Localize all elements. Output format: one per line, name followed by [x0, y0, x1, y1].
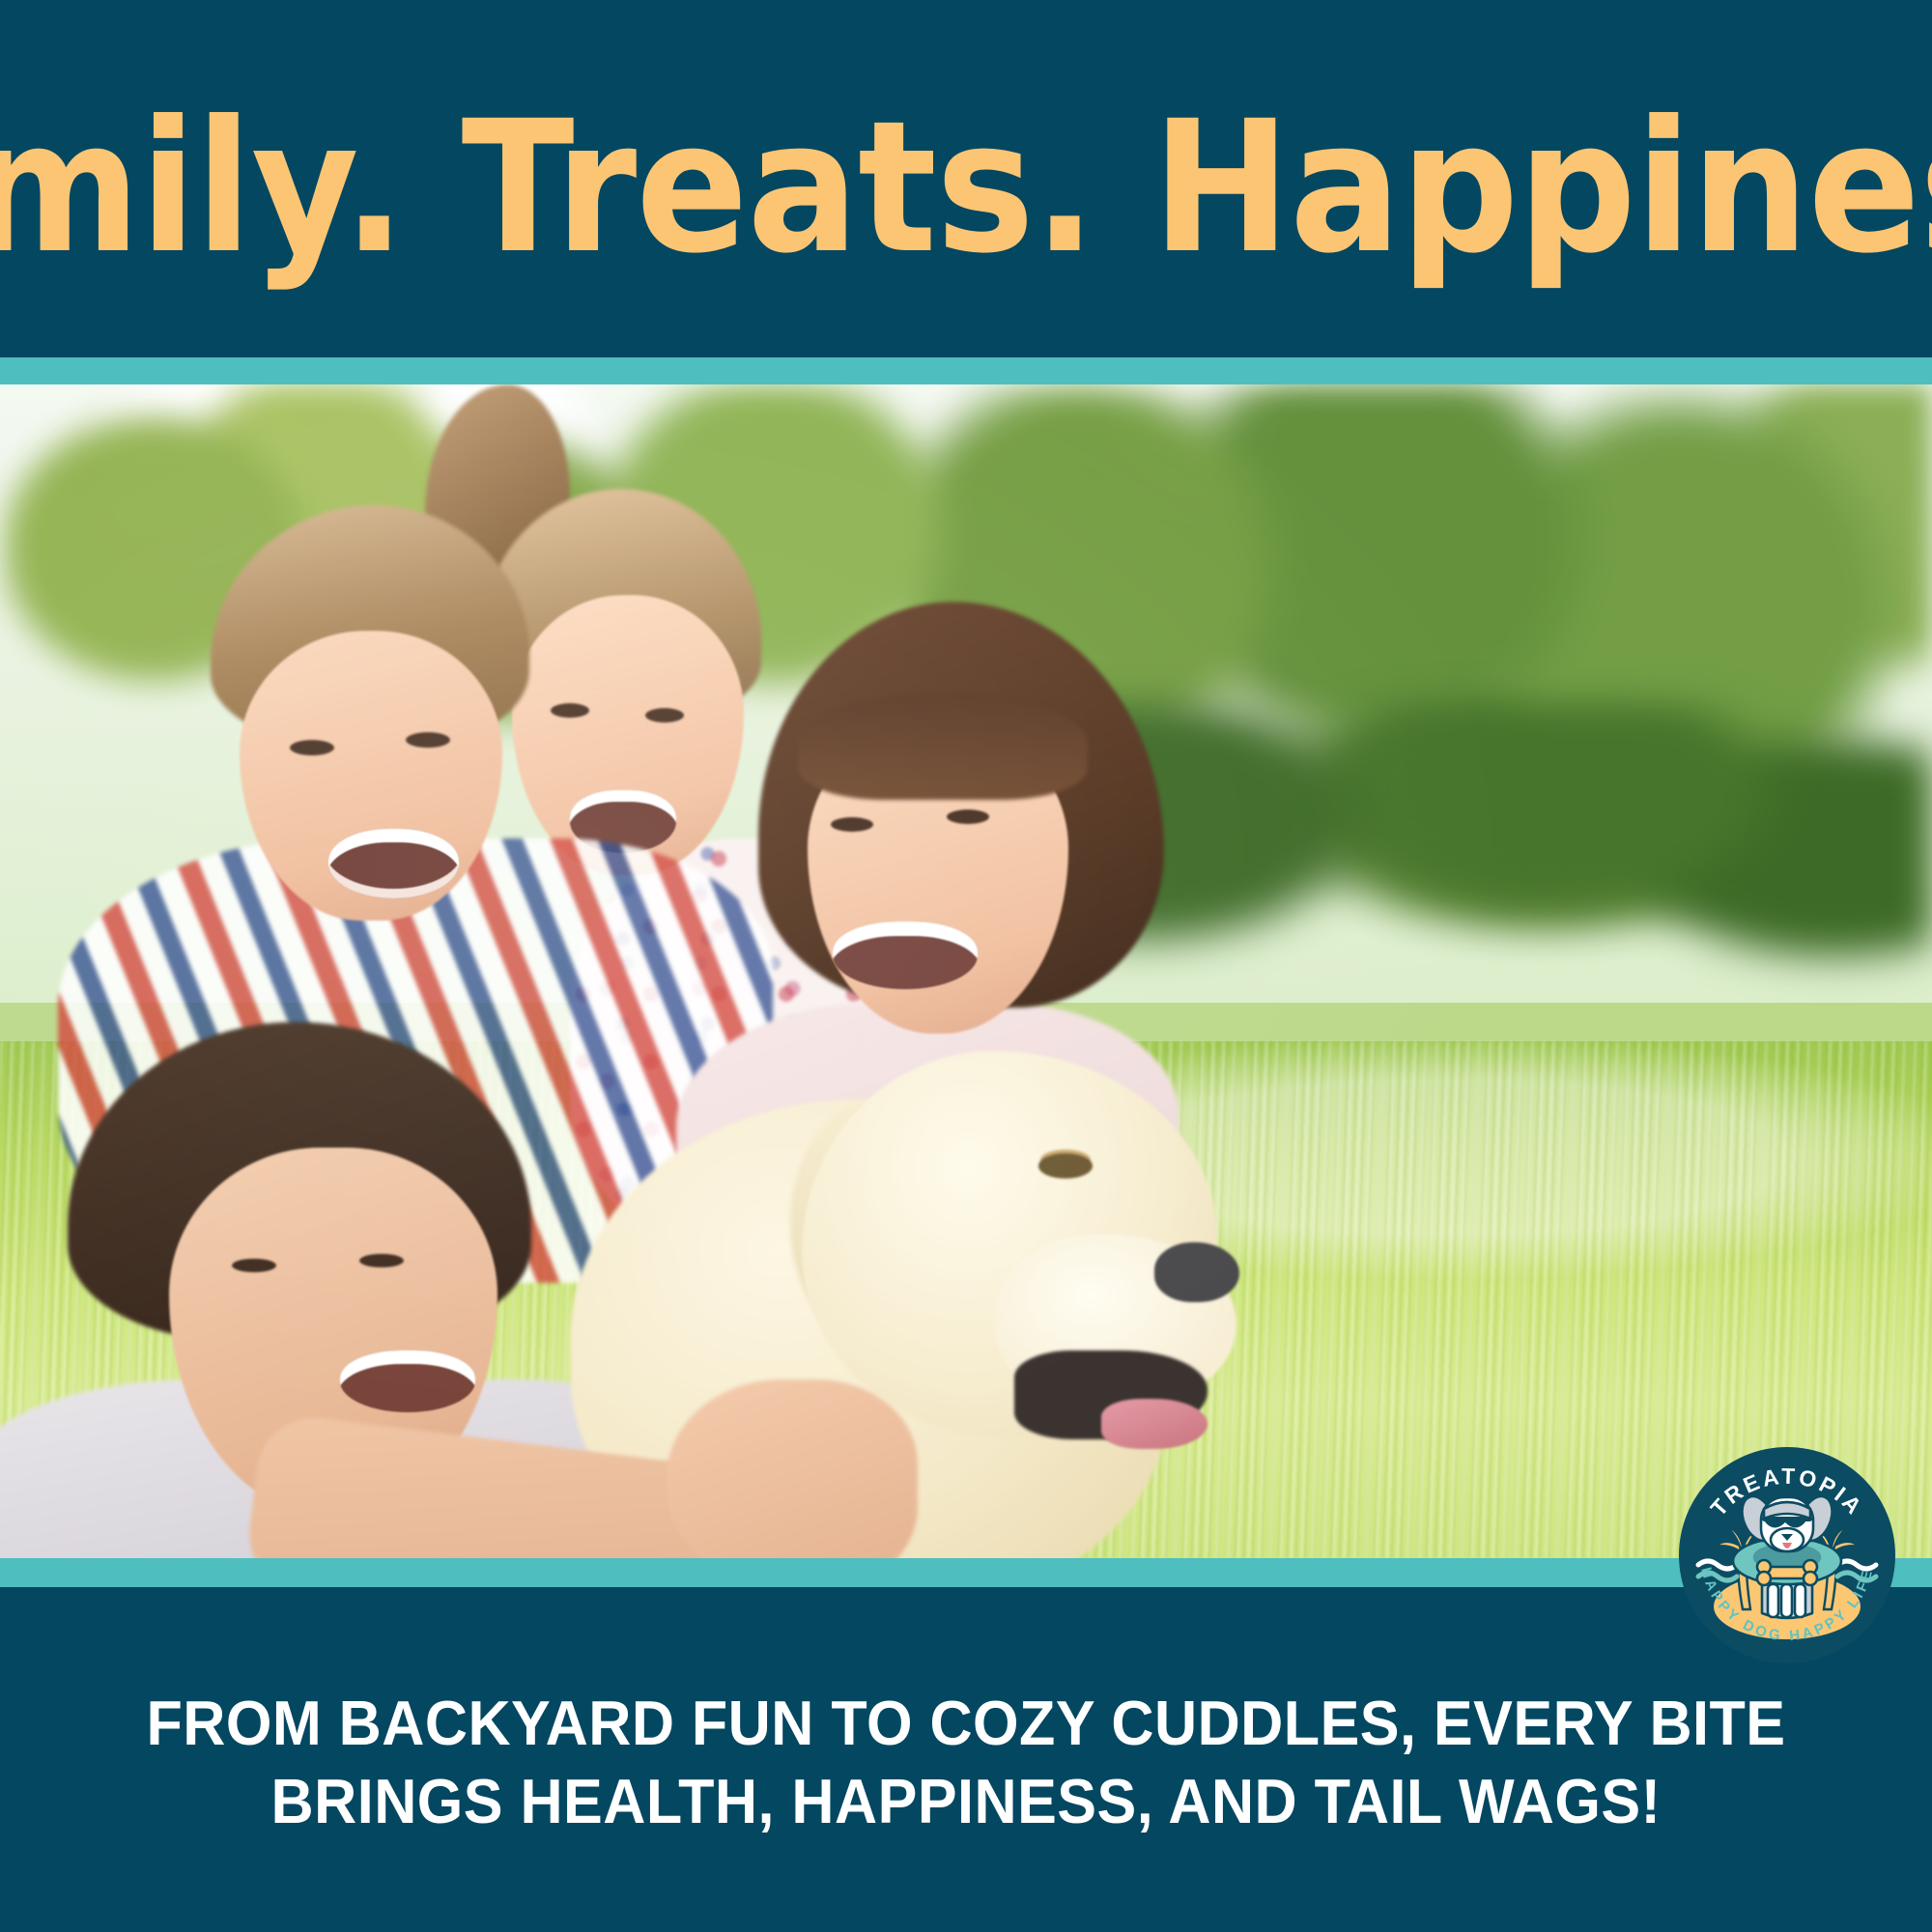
- dog-nose: [1154, 1242, 1239, 1302]
- father-eye-right: [359, 1254, 404, 1267]
- footer-banner: FROM BACKYARD FUN TO COZY CUDDLES, EVERY…: [0, 1587, 1932, 1932]
- promo-poster: Family. Treats. Happiness.: [0, 0, 1932, 1932]
- father-mouth: [340, 1350, 475, 1412]
- dog-tongue: [1101, 1399, 1207, 1449]
- brand-logo[interactable]: TREATOPIA HAPPY DOG HAPPY LIFE: [1679, 1447, 1895, 1663]
- header-banner: Family. Treats. Happiness.: [0, 0, 1932, 357]
- father-hand: [667, 1379, 918, 1558]
- divider-band-bottom: [0, 1558, 1932, 1587]
- girl-eye-left: [551, 703, 589, 718]
- boy-eye-right: [406, 732, 450, 748]
- mother-eye-left: [831, 817, 873, 832]
- boy-eye-left: [290, 740, 334, 755]
- tagline-line-2: BRINGS HEALTH, HAPPINESS, AND TAIL WAGS!: [58, 1762, 1874, 1840]
- mother-fringe: [798, 694, 1088, 800]
- logo-badge-svg: TREATOPIA HAPPY DOG HAPPY LIFE: [1679, 1447, 1895, 1663]
- divider-band-top: [0, 357, 1932, 384]
- dog-eye: [1038, 1153, 1093, 1179]
- girl-eye-right: [645, 708, 684, 723]
- page-title: Family. Treats. Happiness.: [0, 97, 1932, 278]
- tagline: FROM BACKYARD FUN TO COZY CUDDLES, EVERY…: [58, 1684, 1874, 1841]
- photo-scene: [0, 384, 1932, 1558]
- tagline-line-1: FROM BACKYARD FUN TO COZY CUDDLES, EVERY…: [58, 1684, 1874, 1762]
- mother-mouth: [833, 922, 978, 989]
- boy-mouth: [328, 829, 459, 898]
- mother-eye-right: [947, 810, 989, 824]
- hero-photo: [0, 384, 1932, 1558]
- father-eye-left: [232, 1259, 276, 1272]
